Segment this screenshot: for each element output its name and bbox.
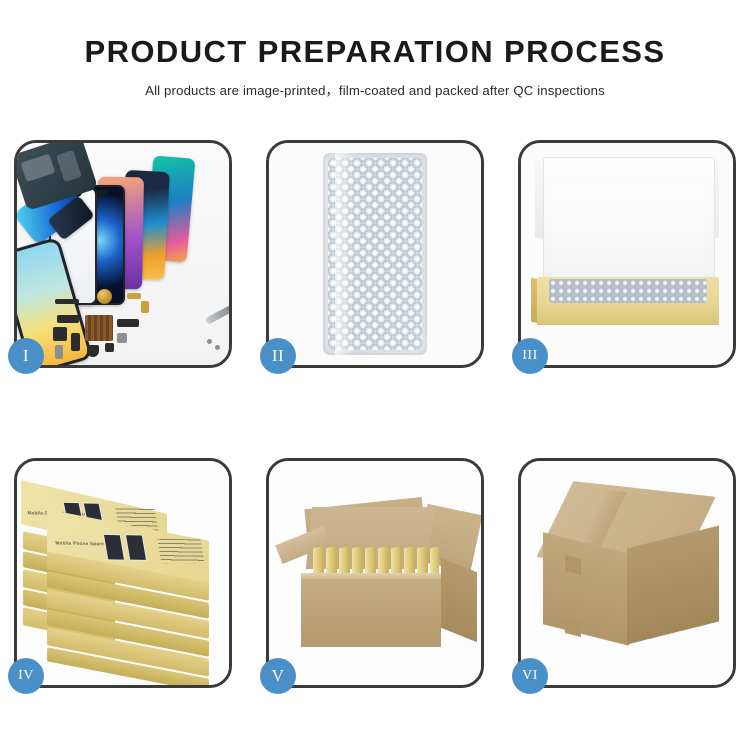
spare-part [87, 345, 99, 357]
box-tray-front [537, 303, 719, 325]
step-panel-5: V [266, 458, 484, 688]
process-steps-grid: I II [14, 140, 736, 688]
carton-front-wall [301, 579, 441, 647]
header: PRODUCT PREPARATION PROCESS All products… [0, 0, 750, 99]
step-panel-6: VI [518, 458, 736, 688]
spare-part [57, 315, 79, 323]
page-title: PRODUCT PREPARATION PROCESS [0, 0, 750, 69]
screw-part [207, 339, 212, 344]
spare-part [53, 327, 67, 341]
spare-part [105, 343, 114, 352]
step-card-5: V [266, 458, 484, 688]
step-image-2 [269, 143, 481, 365]
step-badge-4: IV [8, 658, 44, 694]
step-card-6: VI [518, 458, 736, 688]
step-image-6 [521, 461, 733, 685]
step-badge-3: III [512, 338, 548, 374]
spare-part [117, 333, 127, 343]
step-card-3: III [518, 140, 736, 368]
housing-detail [21, 154, 56, 182]
step-badge-6: VI [512, 658, 548, 694]
spare-part [141, 301, 149, 313]
spare-part [55, 345, 63, 359]
step-badge-label: I [23, 346, 29, 366]
kraft-box-stack: Mobile Phone Spare Parts Mobile Phone Sp… [19, 475, 229, 671]
spare-part [71, 333, 80, 351]
step-image-5 [269, 461, 481, 685]
step-image-1 [17, 143, 229, 365]
box-product-window [103, 534, 125, 561]
vibration-motor-part [97, 289, 112, 304]
product-preparation-infographic: PRODUCT PREPARATION PROCESS All products… [0, 0, 750, 750]
step-badge-label: IV [18, 668, 34, 684]
step-badge-label: II [272, 346, 284, 366]
step-card-4: Mobile Phone Spare Parts Mobile Phone Sp… [14, 458, 232, 688]
step-badge-label: VI [522, 668, 538, 684]
step-panel-1: I [14, 140, 232, 368]
foam-padding [551, 183, 705, 275]
bubble-wrap-sleeve [323, 153, 427, 355]
step-badge-label: III [522, 348, 538, 364]
step-panel-3: III [518, 140, 736, 368]
step-card-2: II [266, 140, 484, 368]
step-image-3 [521, 143, 733, 365]
step-badge-2: II [260, 338, 296, 374]
box-product-window [125, 534, 147, 561]
spare-part [117, 319, 139, 327]
step-badge-1: I [8, 338, 44, 374]
carton-right-wall [441, 558, 477, 643]
step-image-4: Mobile Phone Spare Parts Mobile Phone Sp… [17, 461, 229, 685]
screw-part [215, 345, 220, 350]
spare-part [55, 299, 79, 304]
bubble-wrapped-contents [549, 279, 707, 303]
step-panel-4: Mobile Phone Spare Parts Mobile Phone Sp… [14, 458, 232, 688]
step-card-1: I [14, 140, 232, 368]
box-spec-lines [157, 539, 204, 564]
logic-board-part [85, 315, 113, 341]
plastic-sheen [335, 153, 354, 355]
step-badge-5: V [260, 658, 296, 694]
step-badge-label: V [272, 666, 285, 686]
carton-seam-bottom [565, 619, 581, 637]
spare-part [127, 293, 141, 299]
tweezers-icon [205, 304, 229, 324]
housing-detail [56, 150, 82, 182]
page-subtitle: All products are image-printed，film-coat… [0, 69, 750, 99]
step-panel-2: II [266, 140, 484, 368]
